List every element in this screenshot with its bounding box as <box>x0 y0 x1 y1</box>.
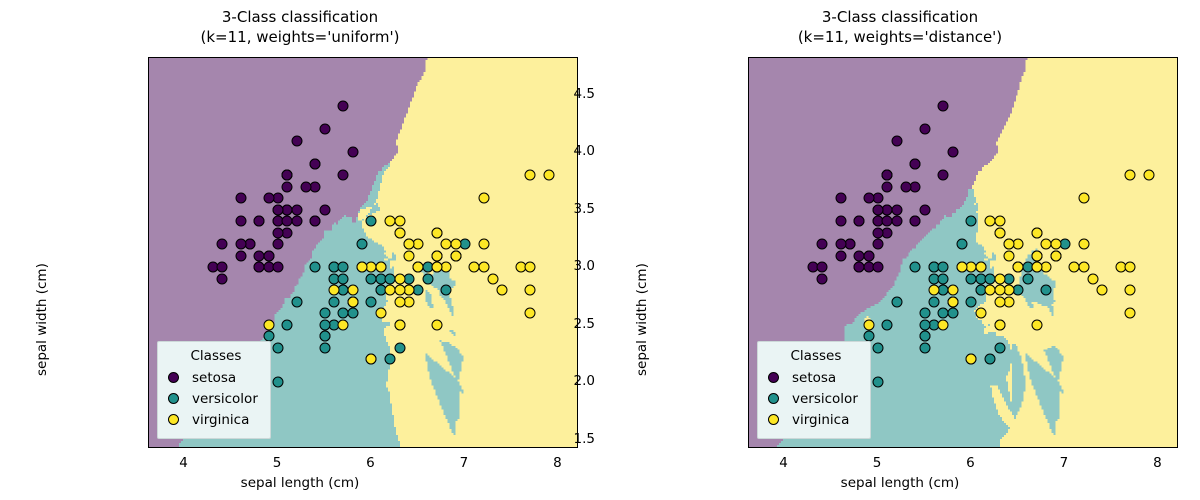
data-point-virginica <box>957 262 968 273</box>
data-point-versicolor <box>938 273 949 284</box>
data-point-versicolor <box>910 262 921 273</box>
data-point-setosa <box>273 227 284 238</box>
data-point-setosa <box>910 216 921 227</box>
data-point-versicolor <box>319 319 330 330</box>
y-tick-mark <box>748 210 749 211</box>
data-point-versicolor <box>919 342 930 353</box>
data-point-virginica <box>975 308 986 319</box>
data-point-versicolor <box>966 296 977 307</box>
x-tick-mark <box>371 447 372 448</box>
legend-label-virginica: virginica <box>192 412 249 428</box>
y-tick-label: 1.5 <box>574 431 595 447</box>
data-point-setosa <box>910 158 921 169</box>
data-point-virginica <box>1125 262 1136 273</box>
data-point-virginica <box>994 227 1005 238</box>
data-point-virginica <box>1078 262 1089 273</box>
data-point-setosa <box>310 158 321 169</box>
data-point-versicolor <box>966 273 977 284</box>
data-point-virginica <box>929 285 940 296</box>
data-point-virginica <box>1097 285 1108 296</box>
data-point-setosa <box>319 124 330 135</box>
legend-item-virginica: virginica <box>168 409 258 430</box>
data-point-setosa <box>919 204 930 215</box>
versicolor-swatch-icon <box>168 393 179 404</box>
x-tick-mark <box>185 447 186 448</box>
data-point-setosa <box>873 262 884 273</box>
data-point-virginica <box>938 319 949 330</box>
data-point-virginica <box>263 319 274 330</box>
legend-item-virginica: virginica <box>768 409 858 430</box>
data-point-setosa <box>338 170 349 181</box>
data-point-virginica <box>1003 250 1014 261</box>
y-tick-label: 4.0 <box>574 143 595 159</box>
data-point-setosa <box>882 170 893 181</box>
data-point-versicolor <box>310 262 321 273</box>
data-point-virginica <box>863 319 874 330</box>
data-point-versicolor <box>873 377 884 388</box>
data-point-setosa <box>882 216 893 227</box>
y-axis-title-distance: sepal width (cm) <box>634 263 650 376</box>
data-point-setosa <box>835 216 846 227</box>
data-point-setosa <box>816 273 827 284</box>
data-point-setosa <box>235 250 246 261</box>
data-point-setosa <box>873 204 884 215</box>
x-axis-title-uniform: sepal length (cm) <box>0 475 600 491</box>
y-tick-label: 2.0 <box>574 373 595 389</box>
data-point-versicolor <box>338 273 349 284</box>
data-point-setosa <box>263 250 274 261</box>
data-point-virginica <box>994 273 1005 284</box>
title-line-2: (k=11, weights='uniform') <box>0 28 600 48</box>
data-point-versicolor <box>994 342 1005 353</box>
data-point-setosa <box>835 239 846 250</box>
data-point-virginica <box>1031 319 1042 330</box>
x-tick-label: 7 <box>1060 455 1069 471</box>
data-point-setosa <box>910 181 921 192</box>
data-point-virginica <box>994 319 1005 330</box>
y-tick-mark <box>148 382 149 383</box>
data-point-setosa <box>854 262 865 273</box>
data-point-virginica <box>347 285 358 296</box>
data-point-setosa <box>891 135 902 146</box>
data-point-versicolor <box>319 342 330 353</box>
data-point-versicolor <box>422 273 433 284</box>
legend-title: Classes <box>174 348 258 364</box>
data-point-versicolor <box>966 216 977 227</box>
data-point-setosa <box>291 135 302 146</box>
data-point-virginica <box>394 319 405 330</box>
title-line-1: 3-Class classification <box>222 8 378 26</box>
legend-label-setosa: setosa <box>192 370 236 386</box>
x-tick-mark <box>278 447 279 448</box>
data-point-setosa <box>882 181 893 192</box>
x-tick-label: 8 <box>1153 455 1162 471</box>
data-point-setosa <box>301 181 312 192</box>
data-point-versicolor <box>329 296 340 307</box>
legend-label-setosa: setosa <box>792 370 836 386</box>
data-point-virginica <box>1041 239 1052 250</box>
y-tick-label: 3.0 <box>574 258 595 274</box>
data-point-versicolor <box>919 319 930 330</box>
legend-label-versicolor: versicolor <box>792 391 858 407</box>
data-point-virginica <box>1125 170 1136 181</box>
legend-item-setosa: setosa <box>168 367 258 388</box>
data-point-virginica <box>394 227 405 238</box>
y-tick-label: 4.5 <box>574 86 595 102</box>
y-tick-label: 3.5 <box>574 201 595 217</box>
data-point-versicolor <box>282 319 293 330</box>
x-tick-label: 8 <box>553 455 562 471</box>
x-tick-mark <box>1158 447 1159 448</box>
data-point-setosa <box>273 262 284 273</box>
x-tick-label: 4 <box>179 455 188 471</box>
data-point-setosa <box>835 193 846 204</box>
data-point-setosa <box>235 239 246 250</box>
data-point-versicolor <box>273 377 284 388</box>
data-point-virginica <box>394 285 405 296</box>
data-point-setosa <box>244 239 255 250</box>
data-point-virginica <box>525 262 536 273</box>
data-point-setosa <box>282 170 293 181</box>
data-point-virginica <box>394 296 405 307</box>
data-point-setosa <box>835 250 846 261</box>
data-point-versicolor <box>366 216 377 227</box>
data-point-versicolor <box>873 342 884 353</box>
data-point-virginica <box>1078 239 1089 250</box>
data-point-virginica <box>1078 193 1089 204</box>
data-point-setosa <box>216 273 227 284</box>
y-tick-mark <box>748 382 749 383</box>
x-tick-label: 5 <box>273 455 282 471</box>
data-point-versicolor <box>919 308 930 319</box>
x-tick-mark <box>971 447 972 448</box>
data-point-virginica <box>497 285 508 296</box>
legend-distance[interactable]: Classes setosa versicolor virginica <box>757 341 871 439</box>
x-tick-label: 7 <box>460 455 469 471</box>
data-point-virginica <box>357 262 368 273</box>
data-point-virginica <box>431 319 442 330</box>
data-point-versicolor <box>319 308 330 319</box>
x-tick-mark <box>465 447 466 448</box>
y-tick-mark <box>148 95 149 96</box>
data-point-versicolor <box>938 262 949 273</box>
data-point-virginica <box>1144 170 1155 181</box>
data-point-versicolor <box>347 308 358 319</box>
y-tick-mark <box>748 152 749 153</box>
x-tick-mark <box>878 447 879 448</box>
data-point-versicolor <box>891 296 902 307</box>
data-point-virginica <box>347 296 358 307</box>
data-point-versicolor <box>338 262 349 273</box>
data-point-versicolor <box>385 354 396 365</box>
y-tick-mark <box>748 267 749 268</box>
data-point-versicolor <box>357 239 368 250</box>
data-point-setosa <box>235 193 246 204</box>
data-point-versicolor <box>319 331 330 342</box>
data-point-versicolor <box>919 331 930 342</box>
x-tick-label: 6 <box>366 455 375 471</box>
y-tick-mark <box>748 95 749 96</box>
figure: 3-Class classification (k=11, weights='u… <box>0 0 1200 500</box>
data-point-versicolor <box>957 239 968 250</box>
data-point-versicolor <box>394 342 405 353</box>
panel-title-uniform: 3-Class classification (k=11, weights='u… <box>0 8 600 47</box>
data-point-setosa <box>216 239 227 250</box>
data-point-virginica <box>1013 262 1024 273</box>
y-tick-label: 2.5 <box>574 316 595 332</box>
data-point-versicolor <box>929 296 940 307</box>
data-point-virginica <box>431 227 442 238</box>
data-point-setosa <box>873 239 884 250</box>
data-point-virginica <box>450 250 461 261</box>
data-point-virginica <box>1031 250 1042 261</box>
data-point-virginica <box>385 216 396 227</box>
y-tick-mark <box>748 440 749 441</box>
data-point-setosa <box>901 181 912 192</box>
data-point-virginica <box>375 308 386 319</box>
data-point-virginica <box>478 193 489 204</box>
data-point-setosa <box>863 193 874 204</box>
data-point-setosa <box>254 262 265 273</box>
data-point-virginica <box>441 239 452 250</box>
y-tick-mark <box>148 152 149 153</box>
data-point-versicolor <box>459 239 470 250</box>
x-tick-mark <box>785 447 786 448</box>
data-point-setosa <box>891 204 902 215</box>
virginica-swatch-icon <box>768 414 779 425</box>
data-point-virginica <box>1125 285 1136 296</box>
data-point-virginica <box>403 239 414 250</box>
data-point-virginica <box>1031 227 1042 238</box>
data-point-setosa <box>282 216 293 227</box>
data-point-setosa <box>938 101 949 112</box>
data-point-versicolor <box>1041 285 1052 296</box>
data-point-virginica <box>994 285 1005 296</box>
x-axis-title-distance: sepal length (cm) <box>600 475 1200 491</box>
title-line-2: (k=11, weights='distance') <box>600 28 1200 48</box>
data-point-setosa <box>947 147 958 158</box>
data-point-virginica <box>366 354 377 365</box>
data-point-virginica <box>1050 250 1061 261</box>
legend-item-versicolor: versicolor <box>768 388 858 409</box>
data-point-setosa <box>863 250 874 261</box>
data-point-setosa <box>310 181 321 192</box>
panel-uniform: 3-Class classification (k=11, weights='u… <box>0 0 600 500</box>
data-point-setosa <box>291 204 302 215</box>
legend-uniform[interactable]: Classes setosa versicolor virginica <box>157 341 271 439</box>
data-point-virginica <box>478 239 489 250</box>
data-point-virginica <box>403 250 414 261</box>
data-point-virginica <box>338 319 349 330</box>
data-point-setosa <box>338 101 349 112</box>
y-tick-mark <box>148 210 149 211</box>
data-point-versicolor <box>273 342 284 353</box>
data-point-setosa <box>816 262 827 273</box>
x-tick-label: 6 <box>966 455 975 471</box>
data-point-virginica <box>947 296 958 307</box>
data-point-setosa <box>347 147 358 158</box>
data-point-virginica <box>329 285 340 296</box>
legend-item-versicolor: versicolor <box>168 388 258 409</box>
data-point-versicolor <box>291 296 302 307</box>
data-point-setosa <box>816 239 827 250</box>
legend-title: Classes <box>774 348 858 364</box>
data-point-virginica <box>525 285 536 296</box>
data-point-virginica <box>525 170 536 181</box>
panel-distance: 3-Class classification (k=11, weights='d… <box>600 0 1200 500</box>
data-point-setosa <box>319 204 330 215</box>
y-tick-mark <box>148 440 149 441</box>
legend-label-versicolor: versicolor <box>192 391 258 407</box>
versicolor-swatch-icon <box>768 393 779 404</box>
data-point-versicolor <box>985 354 996 365</box>
data-point-setosa <box>844 239 855 250</box>
x-tick-mark <box>558 447 559 448</box>
x-tick-mark <box>1065 447 1066 448</box>
title-line-1: 3-Class classification <box>822 8 978 26</box>
data-point-virginica <box>525 308 536 319</box>
data-point-setosa <box>263 193 274 204</box>
data-point-versicolor <box>366 296 377 307</box>
data-point-setosa <box>216 262 227 273</box>
data-point-virginica <box>431 250 442 261</box>
data-point-virginica <box>488 273 499 284</box>
data-point-versicolor <box>441 285 452 296</box>
data-point-versicolor <box>947 308 958 319</box>
y-axis-title-uniform: sepal width (cm) <box>34 263 50 376</box>
data-point-versicolor <box>1059 239 1070 250</box>
data-point-setosa <box>254 216 265 227</box>
data-point-virginica <box>1031 262 1042 273</box>
data-point-setosa <box>273 193 284 204</box>
x-tick-label: 5 <box>873 455 882 471</box>
legend-label-virginica: virginica <box>792 412 849 428</box>
setosa-swatch-icon <box>168 372 179 383</box>
data-point-setosa <box>873 227 884 238</box>
setosa-swatch-icon <box>768 372 779 383</box>
data-point-virginica <box>1003 239 1014 250</box>
data-point-virginica <box>947 285 958 296</box>
data-point-virginica <box>1088 273 1099 284</box>
data-point-virginica <box>478 262 489 273</box>
data-point-setosa <box>310 216 321 227</box>
data-point-virginica <box>544 170 555 181</box>
data-point-virginica <box>1125 308 1136 319</box>
data-point-setosa <box>938 170 949 181</box>
axes-distance[interactable]: Classes setosa versicolor virginica <box>748 57 1178 448</box>
data-point-setosa <box>919 124 930 135</box>
legend-item-setosa: setosa <box>768 367 858 388</box>
data-point-setosa <box>273 239 284 250</box>
data-point-setosa <box>273 204 284 215</box>
data-point-virginica <box>994 296 1005 307</box>
virginica-swatch-icon <box>168 414 179 425</box>
data-point-virginica <box>966 354 977 365</box>
x-tick-label: 4 <box>779 455 788 471</box>
data-point-versicolor <box>882 319 893 330</box>
y-tick-mark <box>148 325 149 326</box>
data-point-setosa <box>282 181 293 192</box>
data-point-versicolor <box>366 273 377 284</box>
data-point-setosa <box>235 216 246 227</box>
data-point-versicolor <box>1022 273 1033 284</box>
y-tick-mark <box>748 325 749 326</box>
data-point-virginica <box>413 262 424 273</box>
panel-title-distance: 3-Class classification (k=11, weights='d… <box>600 8 1200 47</box>
data-point-setosa <box>873 193 884 204</box>
data-point-virginica <box>394 273 405 284</box>
y-tick-mark <box>148 267 149 268</box>
data-point-virginica <box>985 216 996 227</box>
data-point-setosa <box>854 216 865 227</box>
axes-uniform[interactable]: Classes setosa versicolor virginica <box>148 57 578 448</box>
data-point-virginica <box>431 262 442 273</box>
